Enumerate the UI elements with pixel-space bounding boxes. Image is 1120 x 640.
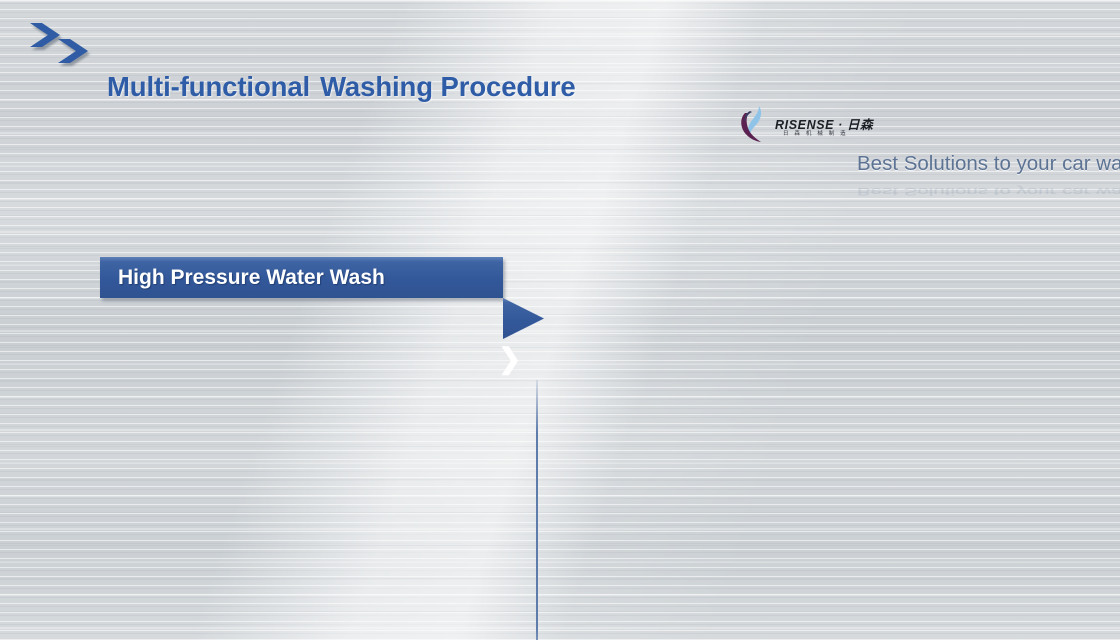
tagline: Best Solutions to your car wash (857, 152, 1120, 176)
risense-swoosh-logo-icon (737, 104, 773, 144)
vertical-divider (536, 380, 538, 640)
slide-canvas: Multi-functionalWashing Procedure RISENS… (0, 0, 1120, 640)
chevron-right-icon (56, 38, 92, 64)
page-title: Multi-functionalWashing Procedure (107, 71, 1120, 103)
double-chevron-right-icon (28, 22, 112, 70)
page-title-part2: Washing Procedure (320, 71, 576, 102)
brand-logo: RISENSE · 日森 日 森 机 械 制 造 (737, 102, 847, 146)
tagline-reflection: Best Solutions to your car wash (857, 185, 1120, 198)
section-banner: High Pressure Water Wash (100, 257, 503, 298)
brand-subtitle: 日 森 机 械 制 造 (783, 129, 848, 137)
chevron-right-icon: ❯ (498, 344, 1120, 374)
page-title-part1: Multi-functional (107, 71, 310, 102)
section-banner-label: High Pressure Water Wash (118, 266, 385, 290)
section-banner-arrow (503, 298, 544, 339)
